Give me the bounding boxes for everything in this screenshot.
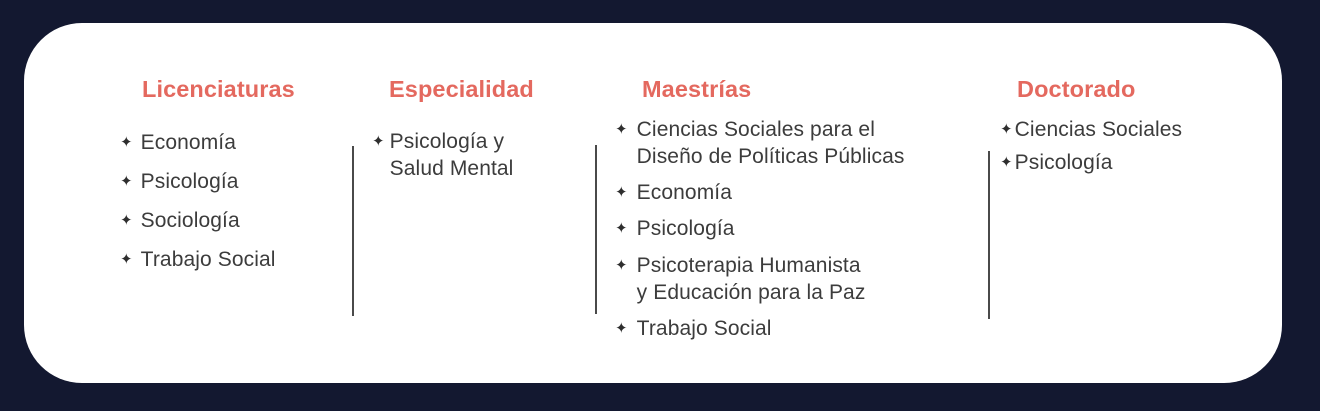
program-name: Psicología [637, 215, 735, 242]
program-name: Ciencias Sociales [1015, 116, 1182, 143]
program-name: Psicología y Salud Mental [390, 128, 514, 183]
sparkle-bullet-icon: ✦ [120, 129, 133, 156]
list-item: ✦ Economía [120, 129, 345, 156]
list-item: ✦ Psicología y Salud Mental [372, 128, 590, 183]
program-list-especialidad: ✦ Psicología y Salud Mental [372, 128, 590, 183]
sparkle-bullet-icon: ✦ [120, 207, 133, 234]
sparkle-bullet-icon: ✦ [120, 168, 133, 195]
sparkle-bullet-icon: ✦ [615, 215, 628, 242]
list-item: ✦ Trabajo Social [120, 246, 345, 273]
slide-canvas: Licenciaturas ✦ Economía ✦ Psicología ✦ … [0, 0, 1320, 411]
content-card: Licenciaturas ✦ Economía ✦ Psicología ✦ … [24, 23, 1282, 383]
sparkle-bullet-icon: ✦ [1000, 116, 1013, 143]
list-item: ✦ Psicología [615, 215, 985, 242]
column-especialidad: Especialidad ✦ Psicología y Salud Mental [365, 78, 590, 182]
list-item: ✦ Psicología [120, 168, 345, 195]
program-name: Economía [141, 129, 236, 156]
sparkle-bullet-icon: ✦ [615, 116, 628, 143]
sparkle-bullet-icon: ✦ [372, 128, 385, 155]
column-divider [988, 151, 990, 319]
column-licenciaturas: Licenciaturas ✦ Economía ✦ Psicología ✦ … [120, 78, 345, 286]
list-item: ✦ Economía [615, 179, 985, 206]
program-name: Economía [637, 179, 732, 206]
column-heading-maestrias: Maestrías [642, 78, 985, 102]
sparkle-bullet-icon: ✦ [615, 315, 628, 342]
column-divider [352, 146, 354, 316]
sparkle-bullet-icon: ✦ [615, 252, 628, 279]
column-maestrias: Maestrías ✦ Ciencias Sociales para el Di… [615, 78, 985, 352]
column-heading-doctorado: Doctorado [1017, 78, 1260, 102]
program-name: Psicología [1015, 149, 1113, 176]
program-name: Trabajo Social [141, 246, 276, 273]
list-item: ✦ Sociología [120, 207, 345, 234]
program-name: Sociología [141, 207, 240, 234]
program-name: Psicología [141, 168, 239, 195]
program-list-maestrias: ✦ Ciencias Sociales para el Diseño de Po… [615, 116, 985, 343]
program-name: Psicoterapia Humanista y Educación para … [637, 252, 866, 307]
sparkle-bullet-icon: ✦ [615, 179, 628, 206]
sparkle-bullet-icon: ✦ [1000, 149, 1013, 176]
program-name: Trabajo Social [637, 315, 772, 342]
column-heading-licenciaturas: Licenciaturas [142, 78, 345, 102]
list-item: ✦ Ciencias Sociales para el Diseño de Po… [615, 116, 985, 171]
list-item: ✦ Psicología [1000, 149, 1260, 176]
sparkle-bullet-icon: ✦ [120, 246, 133, 273]
list-item: ✦ Ciencias Sociales [1000, 116, 1260, 143]
list-item: ✦ Psicoterapia Humanista y Educación par… [615, 252, 985, 307]
column-doctorado: Doctorado ✦ Ciencias Sociales ✦ Psicolog… [1000, 78, 1260, 182]
program-list-licenciaturas: ✦ Economía ✦ Psicología ✦ Sociología ✦ T… [120, 129, 345, 274]
program-list-doctorado: ✦ Ciencias Sociales ✦ Psicología [1000, 116, 1260, 177]
column-heading-especialidad: Especialidad [389, 78, 590, 102]
program-name: Ciencias Sociales para el Diseño de Polí… [637, 116, 905, 171]
column-divider [595, 145, 597, 314]
list-item: ✦ Trabajo Social [615, 315, 985, 342]
